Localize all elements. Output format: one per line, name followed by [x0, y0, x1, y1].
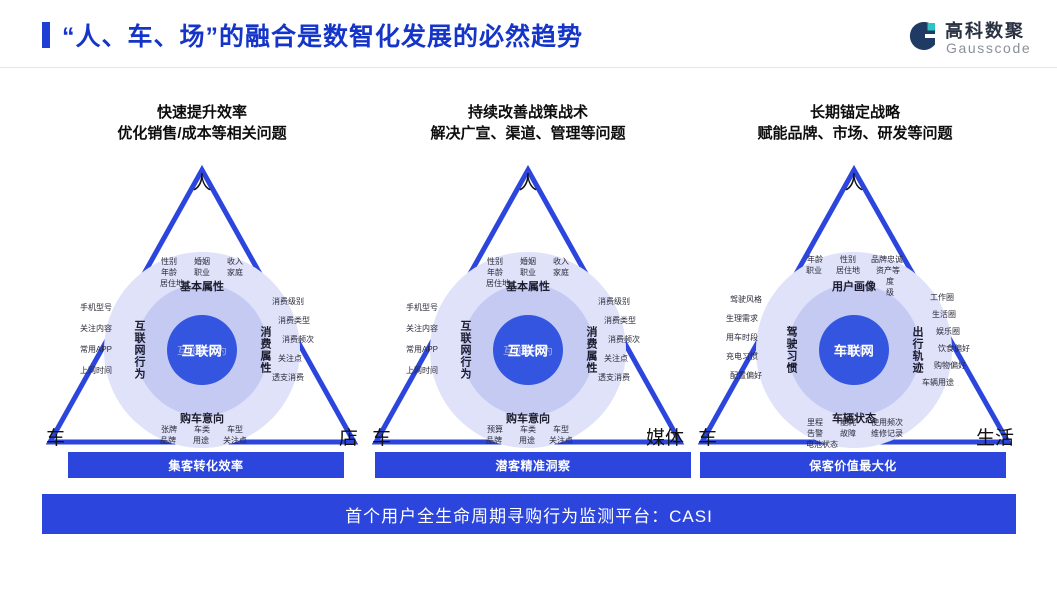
core-label: 互联网	[182, 341, 223, 360]
attrs-top: 性别婚姻收入 年龄职业家庭 居住地	[158, 256, 246, 289]
caption-line-2: 解决广宣、渠道、管理等问题	[368, 123, 688, 144]
attrs-left: 驾驶风格生理需求用车时段充电习惯配置偏好	[730, 294, 762, 381]
caption-line-2: 赋能品牌、市场、研发等问题	[694, 123, 1016, 144]
header-divider	[0, 67, 1057, 68]
attrs-left: 手机型号关注内容常用APP上网时间	[406, 302, 438, 376]
triangle-corner-bottom-right: 店	[339, 429, 358, 448]
attrs-right: 消费级别消费类型消费频次关注点透支消费	[272, 296, 314, 383]
concentric-circles-2: 互联网行为 互联网 基本属性 购车意向 互联网行为 消费属性 性别婚姻收入 年龄…	[430, 252, 626, 448]
ring-label-left: 驾驶习惯	[783, 326, 799, 374]
slide-header: “人、车、场”的融合是数智化发展的必然趋势 高科数聚 Gausscode	[0, 0, 1057, 68]
caption-line-1: 快速提升效率	[42, 102, 362, 123]
triangle-corner-bottom-left: 车	[372, 429, 391, 448]
core-label: 互联网	[508, 341, 549, 360]
attrs-right: 消费级别消费类型消费频次关注点透支消费	[598, 296, 640, 383]
sub-banner-1: 集客转化效率	[68, 452, 344, 478]
main-banner: 首个用户全生命周期寻购行为监测平台：CASI	[42, 494, 1016, 534]
triangle-group-3: 人 车 生活 车联网 车联网 用户画像 车辆状态 驾驶习惯 出行轨迹 年龄性别品…	[694, 160, 1014, 450]
page-title: “人、车、场”的融合是数智化发展的必然趋势	[62, 17, 583, 53]
concentric-circles-3: 车联网 车联网 用户画像 车辆状态 驾驶习惯 出行轨迹 年龄性别品牌忠诚 职业居…	[756, 252, 952, 448]
triangle-corner-top: 人	[518, 174, 537, 193]
attrs-top: 性别婚姻收入 年龄职业家庭 居住地	[484, 256, 572, 289]
column-caption-1: 快速提升效率 优化销售/成本等相关问题	[42, 102, 362, 144]
triangle-corner-top: 人	[844, 174, 863, 193]
triangle-corner-bottom-right: 生活	[976, 429, 1014, 448]
attrs-left: 手机型号关注内容常用APP上网时间	[80, 302, 112, 376]
core-label: 车联网	[834, 341, 875, 360]
triangle-corner-top: 人	[192, 174, 211, 193]
triangle-corner-bottom-left: 车	[46, 429, 65, 448]
gausscode-c-mark-icon	[905, 19, 939, 53]
caption-line-1: 长期锚定战略	[694, 102, 1016, 123]
attrs-bottom: 张牌车类车型 品牌用途关注点	[157, 424, 247, 446]
sub-banner-2: 潜客精准洞察	[375, 452, 691, 478]
ring-label-left: 互联网行为	[131, 320, 147, 380]
slide-canvas: “人、车、场”的融合是数智化发展的必然趋势 高科数聚 Gausscode 快速提…	[0, 0, 1057, 589]
triangle-corner-bottom-right: 媒体	[646, 429, 684, 448]
logo-name-en: Gausscode	[946, 40, 1031, 56]
caption-line-2: 优化销售/成本等相关问题	[42, 123, 362, 144]
caption-line-1: 持续改善战策战术	[368, 102, 688, 123]
ring-label-left: 互联网行为	[457, 320, 473, 380]
triangle-corner-bottom-left: 车	[698, 429, 717, 448]
brand-logo: 高科数聚 Gausscode	[905, 17, 1045, 59]
concentric-circles-1: 互联网行为 互联网 基本属性 购车意向 互联网行为 消费属性 性别婚姻收入 年龄…	[104, 252, 300, 448]
ring-label-right: 消费属性	[583, 326, 599, 374]
attrs-bottom: 里程能耗使用频次 告警故障维修记录 电池状态	[804, 417, 904, 450]
triangle-group-1: 人 车 店 互联网行为 互联网 基本属性 购车意向 互联网行为 消费属性 性别婚…	[42, 160, 362, 450]
attrs-right: 工作圈生活圈娱乐圈饮食偏好购物偏好车辆用途	[922, 292, 970, 388]
ring-label-right: 消费属性	[257, 326, 273, 374]
triangle-group-2: 人 车 媒体 互联网行为 互联网 基本属性 购车意向 互联网行为 消费属性 性别…	[368, 160, 688, 450]
attrs-bottom: 预算车类车型 品牌用途关注点	[483, 424, 573, 446]
column-caption-3: 长期锚定战略 赋能品牌、市场、研发等问题	[694, 102, 1016, 144]
title-accent-bar	[42, 22, 50, 48]
attrs-top: 年龄性别品牌忠诚 职业居住地资产等 度 级	[803, 254, 905, 298]
column-caption-2: 持续改善战策战术 解决广宣、渠道、管理等问题	[368, 102, 688, 144]
sub-banner-3: 保客价值最大化	[700, 452, 1006, 478]
